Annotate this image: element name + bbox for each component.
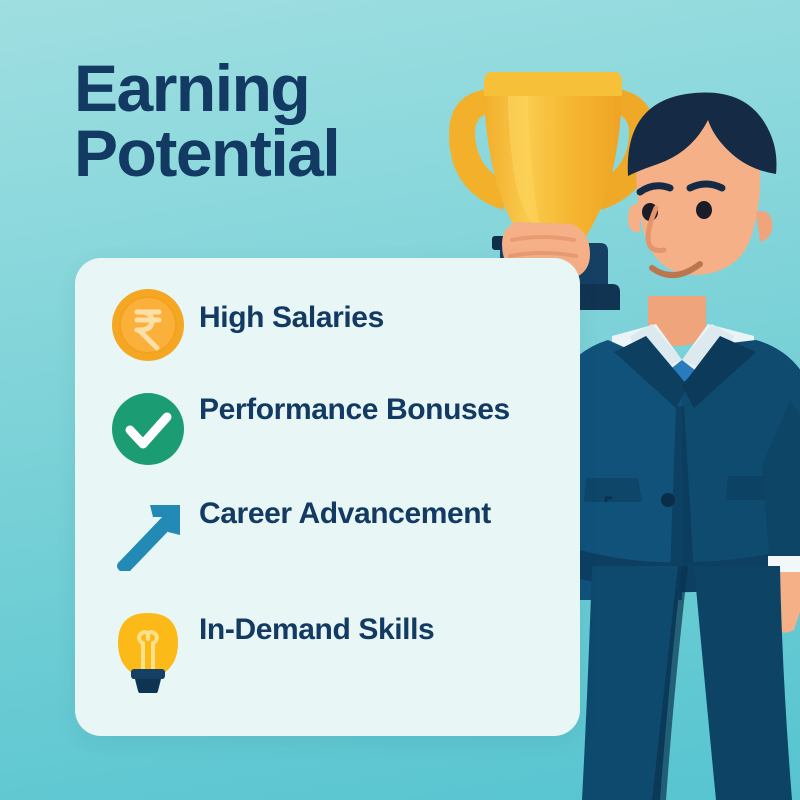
arrow-up-right-icon bbox=[105, 492, 191, 578]
list-item[interactable]: In-Demand Skills bbox=[105, 606, 565, 694]
lightbulb-icon bbox=[105, 608, 191, 694]
list-item[interactable]: High Salaries bbox=[105, 282, 565, 368]
list-item[interactable]: Career Advancement bbox=[105, 490, 565, 578]
rupee-coin-icon bbox=[105, 282, 191, 368]
lowered-arm bbox=[762, 400, 800, 633]
list-item[interactable]: Performance Bonuses bbox=[105, 386, 565, 472]
check-circle-icon bbox=[105, 386, 191, 472]
neck bbox=[648, 296, 706, 346]
page-title: Earning Potential bbox=[74, 56, 494, 185]
infographic-poster: Earning Potential bbox=[0, 0, 800, 800]
list-item-label: Performance Bonuses bbox=[191, 386, 510, 427]
head bbox=[628, 92, 777, 275]
list-item-label: High Salaries bbox=[191, 282, 384, 335]
list-item-label: Career Advancement bbox=[191, 490, 491, 531]
list-item-label: In-Demand Skills bbox=[191, 606, 434, 647]
benefits-list: High Salaries Performance Bonuses bbox=[75, 258, 580, 736]
title-line-2: Potential bbox=[74, 121, 494, 186]
benefits-card: High Salaries Performance Bonuses bbox=[75, 258, 580, 736]
legs bbox=[582, 566, 792, 800]
title-line-1: Earning bbox=[74, 56, 494, 121]
